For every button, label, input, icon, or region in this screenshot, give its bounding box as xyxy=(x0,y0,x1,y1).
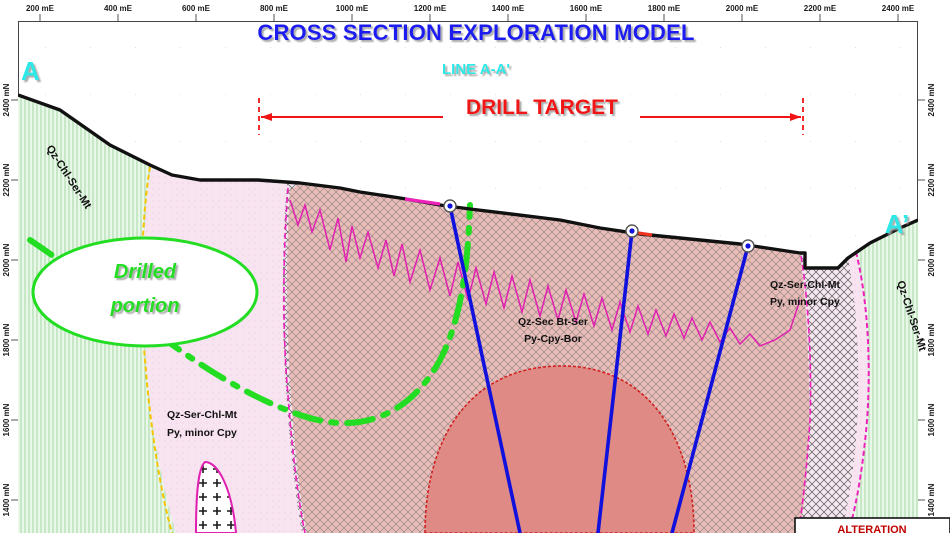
left-axis: 2400 mN 2200 mN 2000 mN 1800 mN 1600 mN … xyxy=(2,22,19,533)
label-right-halo-line2: Py, minor Cpy xyxy=(770,296,840,308)
top-tick-label: 600 mE xyxy=(182,4,211,13)
right-tick-label: 2400 mN xyxy=(927,83,936,116)
right-tick-label: 2200 mN xyxy=(927,163,936,196)
label-core-line1: Qz-Sec Bt-Ser xyxy=(518,316,588,328)
top-tick-label: 800 mE xyxy=(260,4,289,13)
drilled-portion-ellipse xyxy=(33,238,257,346)
section-subtitle: LINE A-A' xyxy=(442,61,510,78)
top-axis: 200 mE 400 mE 600 mE 800 mE 1000 mE 1200… xyxy=(18,4,918,22)
left-tick-label: 1400 mN xyxy=(2,483,11,516)
drilled-portion-line1: Drilled xyxy=(114,261,177,283)
legend-title: ALTERATION xyxy=(837,524,906,533)
right-tick-label: 1800 mN xyxy=(927,323,936,356)
left-tick-label: 2000 mN xyxy=(2,243,11,276)
top-tick-label: 1200 mE xyxy=(414,4,447,13)
left-tick-label: 2200 mN xyxy=(2,163,11,196)
top-tick-label: 1000 mE xyxy=(336,4,369,13)
top-tick-label: 1400 mE xyxy=(492,4,525,13)
label-core-line2: Py-Cpy-Bor xyxy=(524,333,582,345)
drill-target-label: DRILL TARGET xyxy=(466,96,618,119)
cross-section-figure: 200 mE 400 mE 600 mE 800 mE 1000 mE 1200… xyxy=(0,0,950,533)
top-tick-label: 400 mE xyxy=(104,4,133,13)
right-axis: 2400 mN 2200 mN 2000 mN 1800 mN 1600 mN … xyxy=(918,22,937,533)
top-tick-label: 1800 mE xyxy=(648,4,681,13)
label-right-halo-line1: Qz-Ser-Chl-Mt xyxy=(770,279,840,291)
label-left-halo-line1: Qz-Ser-Chl-Mt xyxy=(167,409,237,421)
top-tick-label: 2000 mE xyxy=(726,4,759,13)
top-tick-label: 2400 mE xyxy=(882,4,915,13)
section-endpoint-a: A xyxy=(21,56,40,86)
drilled-portion-line2: portion xyxy=(110,295,180,317)
right-tick-label: 1400 mN xyxy=(927,483,936,516)
top-tick-label: 200 mE xyxy=(26,4,55,13)
left-tick-label: 1600 mN xyxy=(2,403,11,436)
section-endpoint-a-prime: A’ xyxy=(885,209,910,239)
drill-collar-dot xyxy=(745,243,750,248)
drill-collar-dot xyxy=(629,228,634,233)
left-tick-label: 1800 mN xyxy=(2,323,11,356)
top-tick-label: 2200 mE xyxy=(804,4,837,13)
drill-collar-dot xyxy=(447,203,452,208)
label-left-halo-line2: Py, minor Cpy xyxy=(167,427,237,439)
right-tick-label: 1600 mN xyxy=(927,403,936,436)
top-tick-label: 1600 mE xyxy=(570,4,603,13)
page-title: CROSS SECTION EXPLORATION MODEL xyxy=(257,20,694,45)
right-tick-label: 2000 mN xyxy=(927,243,936,276)
legend-box[interactable]: ALTERATION xyxy=(795,518,950,533)
left-tick-label: 2400 mN xyxy=(2,83,11,116)
cross-section-svg: 200 mE 400 mE 600 mE 800 mE 1000 mE 1200… xyxy=(0,0,950,533)
